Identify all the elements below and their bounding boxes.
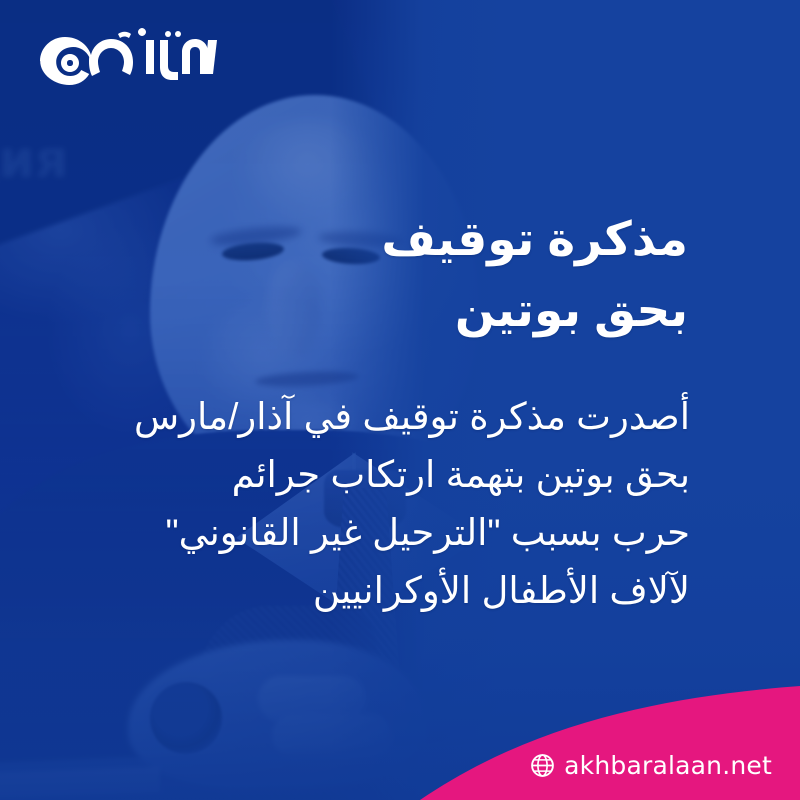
body-line-1: أصدرت مذكرة توقيف في آذار/مارس [70, 388, 690, 446]
website-footer[interactable]: akhbaralaan.net [530, 753, 772, 778]
body-line-3: حرب بسبب "الترحيل غير القانوني" [70, 504, 690, 562]
brand-logo[interactable] [22, 14, 222, 92]
website-url: akhbaralaan.net [564, 753, 772, 778]
page-title: مذكرة توقيف بحق بوتين [108, 203, 688, 346]
globe-icon [530, 753, 555, 778]
headline-line-1: مذكرة توقيف [108, 203, 688, 274]
headline-line-2: بحق بوتين [108, 274, 688, 345]
body-line-2: بحق بوتين بتهمة ارتكاب جرائم [70, 446, 690, 504]
body-text: أصدرت مذكرة توقيف في آذار/مارس بحق بوتين… [70, 388, 690, 620]
body-line-4: لآلاف الأطفال الأوكرانيين [70, 562, 690, 620]
social-media-card: ция Поед [0, 0, 800, 800]
